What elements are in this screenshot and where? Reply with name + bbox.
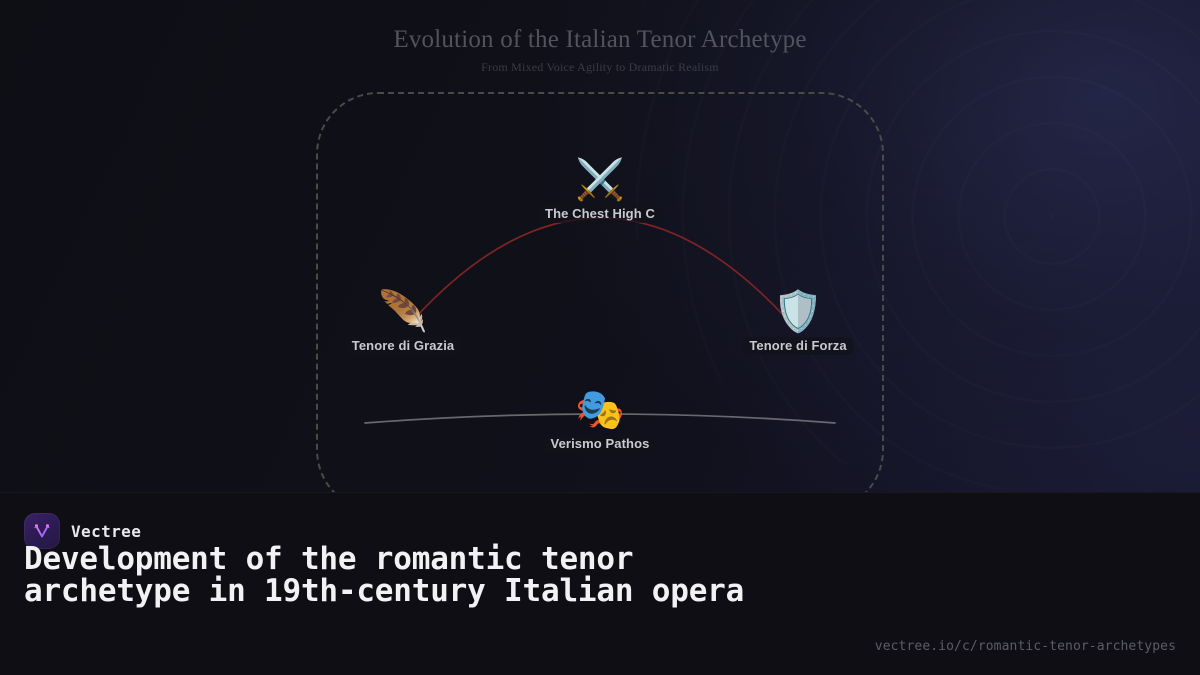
node-label: Tenore di Grazia <box>345 337 462 355</box>
diagram-title: Evolution of the Italian Tenor Archetype <box>0 26 1200 54</box>
node-verismo-pathos[interactable]: 🎭 Verismo Pathos <box>544 387 657 453</box>
node-label: Tenore di Forza <box>742 337 853 355</box>
feather-icon: 🪶 <box>378 289 428 335</box>
performing-arts-icon: 🎭 <box>575 387 625 433</box>
crossed-swords-icon: ⚔️ <box>575 157 625 203</box>
node-label: The Chest High C <box>538 205 662 223</box>
footer-headline: Development of the romantic tenor archet… <box>24 543 764 607</box>
diagram-canvas: Evolution of the Italian Tenor Archetype… <box>0 0 1200 492</box>
page-root: Evolution of the Italian Tenor Archetype… <box>0 0 1200 675</box>
node-the-chest-high-c[interactable]: ⚔️ The Chest High C <box>538 157 662 223</box>
edge-arc-main <box>415 218 786 318</box>
brand-name: Vectree <box>71 522 141 541</box>
shield-icon: 🛡️ <box>773 289 823 335</box>
diagram-subtitle: From Mixed Voice Agility to Dramatic Rea… <box>0 60 1200 75</box>
node-tenore-di-forza[interactable]: 🛡️ Tenore di Forza <box>742 289 853 355</box>
footer-url: vectree.io/c/romantic-tenor-archetypes <box>875 639 1176 654</box>
node-tenore-di-grazia[interactable]: 🪶 Tenore di Grazia <box>345 289 462 355</box>
node-label: Verismo Pathos <box>544 435 657 453</box>
footer: Vectree Development of the romantic teno… <box>0 492 1200 675</box>
